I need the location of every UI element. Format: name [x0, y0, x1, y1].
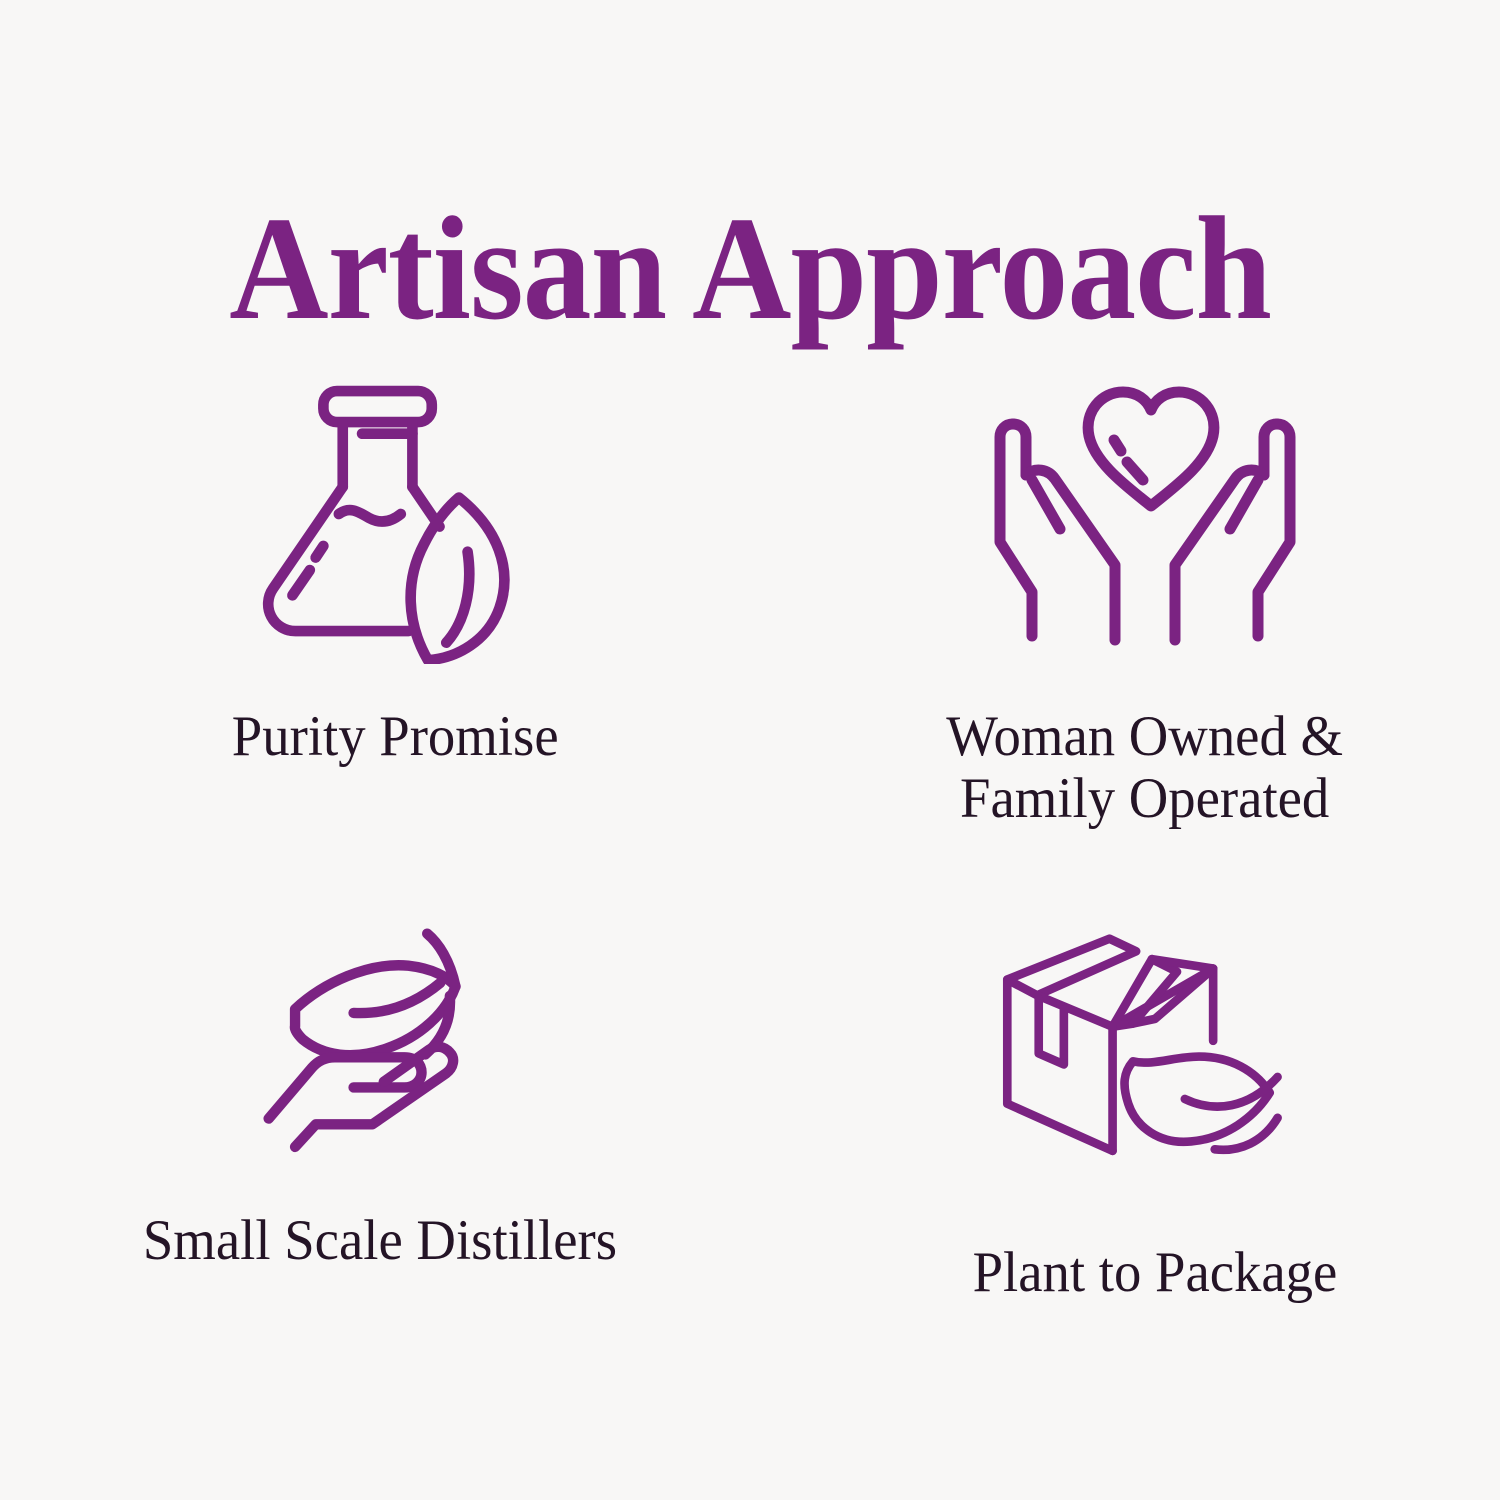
feature-card-plant-to-package: Plant to Package	[750, 880, 1500, 1410]
feature-card-woman-owned: Woman Owned & Family Operated	[750, 350, 1500, 880]
box-leaf-icon	[990, 894, 1320, 1194]
feature-grid: Purity Promise	[0, 350, 1500, 1410]
leaf-in-hand-icon	[246, 894, 514, 1162]
feature-label: Purity Promise	[232, 706, 559, 768]
feature-label: Woman Owned & Family Operated	[947, 706, 1344, 829]
page-title: Artisan Approach	[229, 195, 1271, 343]
hands-holding-heart-icon	[980, 364, 1310, 664]
artisan-approach-panel: Artisan Approach	[0, 0, 1500, 1500]
flask-leaf-icon	[245, 364, 545, 664]
feature-label: Plant to Package	[973, 1242, 1338, 1304]
feature-card-purity-promise: Purity Promise	[0, 350, 750, 880]
feature-label: Small Scale Distillers	[143, 1210, 617, 1272]
feature-card-small-scale-distillers: Small Scale Distillers	[0, 880, 750, 1410]
